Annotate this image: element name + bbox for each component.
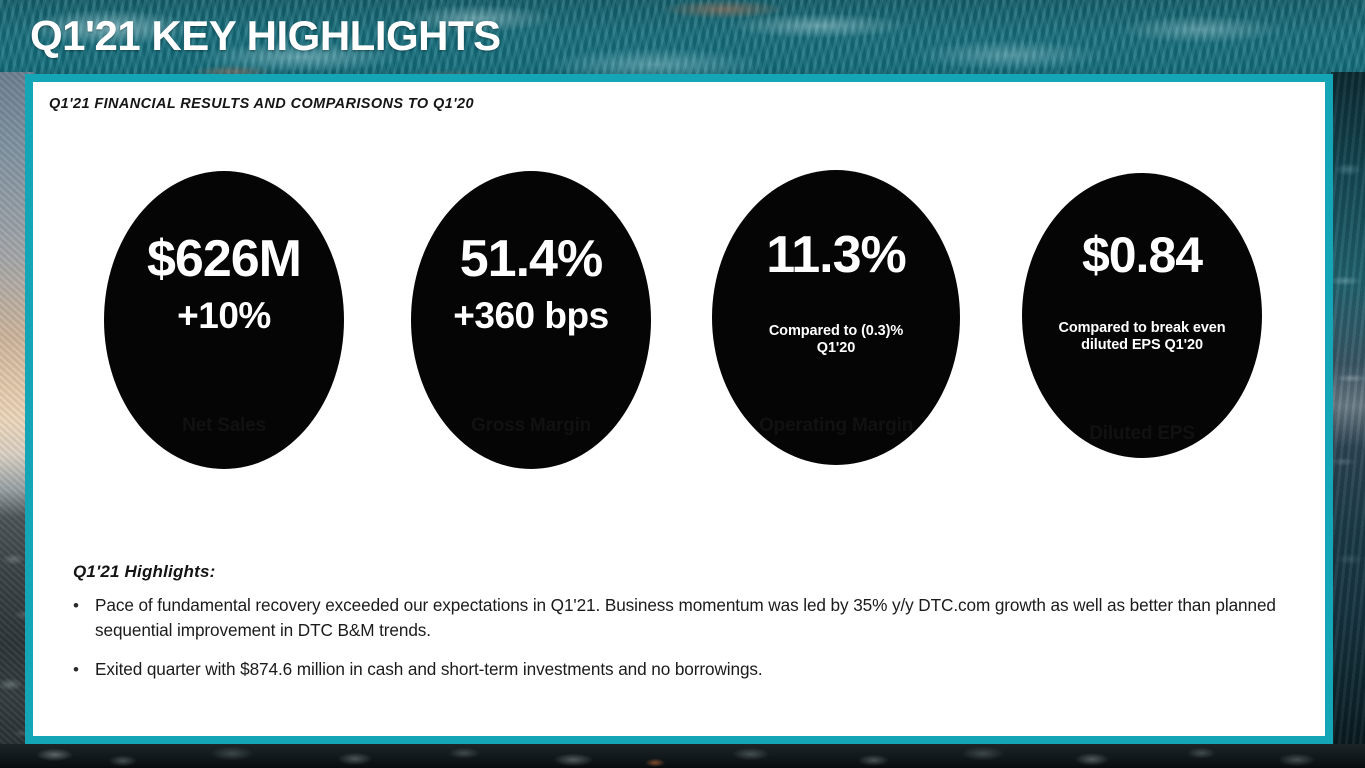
list-item: • Exited quarter with $874.6 million in …: [67, 657, 1297, 682]
metric-note-operating-margin-line1: Compared to (0.3)%: [769, 323, 903, 340]
metric-note-diluted-eps-line1: Compared to break even: [1058, 320, 1225, 337]
metric-value-diluted-eps: $0.84: [1082, 230, 1202, 280]
background-water-right-image: [1331, 72, 1365, 768]
metric-label-operating-margin: Operating Margin: [712, 415, 960, 437]
list-item: • Pace of fundamental recovery exceeded …: [67, 593, 1297, 643]
content-card: Q1'21 FINANCIAL RESULTS AND COMPARISONS …: [25, 74, 1333, 744]
bullet-marker-icon: •: [73, 593, 79, 618]
metric-value-gross-margin: 51.4%: [460, 233, 602, 285]
list-item-text: Exited quarter with $874.6 million in ca…: [95, 657, 1297, 682]
highlights-bullet-list: • Pace of fundamental recovery exceeded …: [67, 593, 1297, 696]
metric-note-operating-margin-line2: Q1'20: [817, 340, 855, 357]
metric-label-diluted-eps: Diluted EPS: [1022, 423, 1262, 445]
metric-subvalue-gross-margin: +360 bps: [453, 297, 608, 334]
metric-label-gross-margin: Gross Margin: [411, 415, 651, 437]
list-item-text: Pace of fundamental recovery exceeded ou…: [95, 593, 1297, 643]
metric-subvalue-net-sales: +10%: [177, 297, 271, 334]
metric-value-operating-margin: 11.3%: [766, 229, 906, 281]
metric-circle-diluted-eps: $0.84 Compared to break even diluted EPS…: [1022, 173, 1262, 458]
slide-root: Q1'21 KEY HIGHLIGHTS Q1'21 FINANCIAL RES…: [0, 0, 1365, 768]
metric-note-diluted-eps-line2: diluted EPS Q1'20: [1081, 337, 1203, 354]
metric-value-net-sales: $626M: [147, 233, 301, 285]
highlights-heading: Q1'21 Highlights:: [73, 562, 216, 582]
slide-title: Q1'21 KEY HIGHLIGHTS: [30, 14, 501, 58]
bullet-marker-icon: •: [73, 657, 79, 682]
metric-label-net-sales: Net Sales: [104, 415, 344, 437]
background-rocks-bottom-image: [0, 744, 1365, 768]
